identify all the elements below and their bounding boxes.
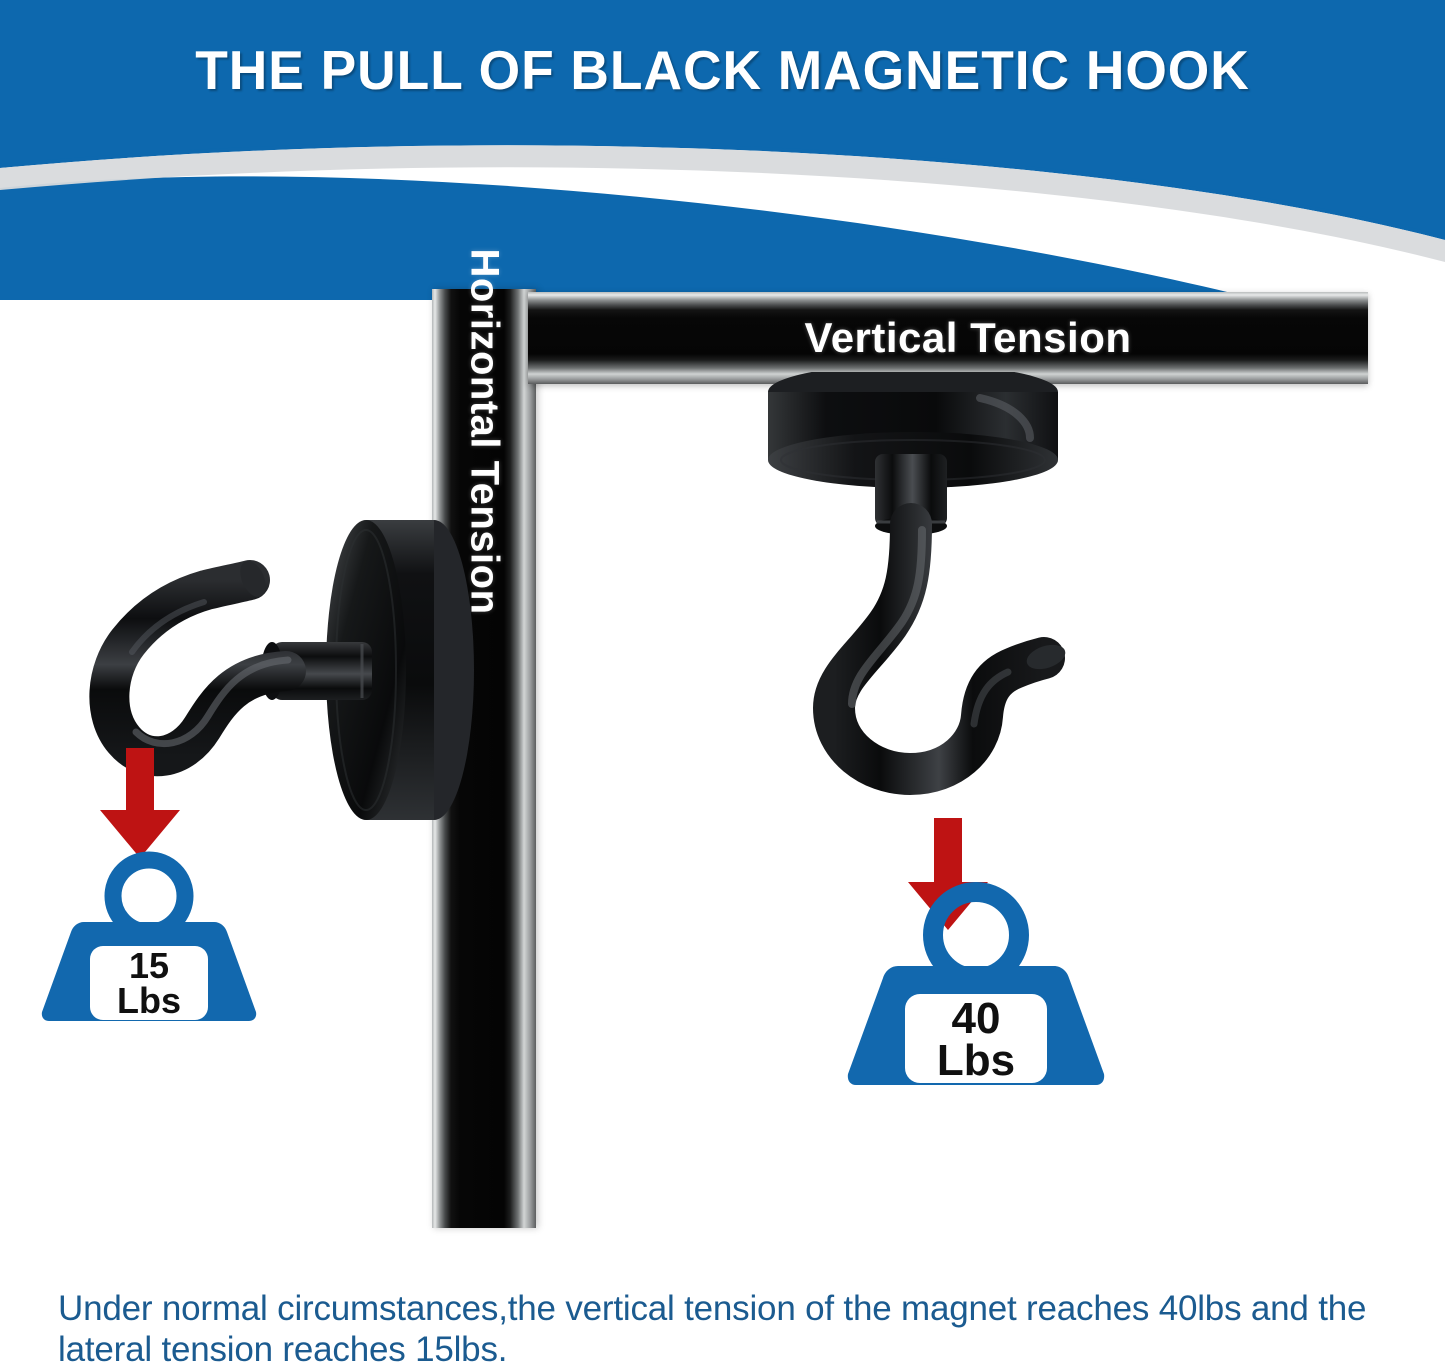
hook-curve xyxy=(109,580,286,756)
magnet-disc-body xyxy=(366,520,434,820)
weight-block-15lbs: 15 Lbs xyxy=(40,850,258,1027)
hook-highlight xyxy=(136,660,288,744)
magnet-disc-bottom-ring xyxy=(781,440,1045,480)
weight-ring xyxy=(933,892,1019,978)
weight-amount: 40 xyxy=(952,994,1001,1043)
wall-bar-label: Horizontal Tension xyxy=(462,248,507,614)
hook-neck xyxy=(875,454,947,526)
horizontal-hook-art xyxy=(10,470,540,865)
weight-unit: Lbs xyxy=(937,1036,1015,1085)
ceiling-bar: Vertical Tension xyxy=(528,292,1368,384)
weight-ring xyxy=(113,860,185,932)
hook-highlight-tip xyxy=(132,602,204,652)
arrow-down-icon xyxy=(900,818,996,930)
horizontal-magnetic-hook-icon xyxy=(10,470,540,860)
wall-bar: Horizontal Tension xyxy=(432,289,536,1228)
page-title: THE PULL OF BLACK MAGNETIC HOOK xyxy=(22,38,1424,102)
magnet-disc-bottom xyxy=(768,432,1058,488)
downward-force-arrow-right xyxy=(900,818,996,935)
downward-force-arrow-left xyxy=(92,748,188,863)
magnet-disc-highlight xyxy=(980,398,1030,438)
hook-tip-face xyxy=(1024,640,1069,673)
ceiling-bar-label: Vertical Tension xyxy=(528,292,1368,384)
weight-body xyxy=(848,966,1104,1085)
wall-bar-label-wrap: Horizontal Tension xyxy=(432,289,536,1228)
weight-icon: 15 Lbs xyxy=(40,850,258,1022)
magnet-disc-face xyxy=(326,520,406,820)
hook-curve xyxy=(834,524,1044,774)
hook-neck xyxy=(272,642,372,700)
weight-plate xyxy=(905,994,1047,1083)
caption-text: Under normal circumstances,the vertical … xyxy=(58,1288,1398,1370)
hook-highlight xyxy=(852,530,922,704)
arrow-shape xyxy=(100,748,180,858)
hook-highlight-tip xyxy=(974,672,1008,724)
weight-plate xyxy=(90,946,208,1020)
hook-neck-cap xyxy=(875,517,947,535)
arrow-shape xyxy=(908,818,988,930)
vertical-hook-art xyxy=(730,372,1130,847)
hook-neck-cap xyxy=(261,642,283,700)
magnet-disc-body xyxy=(768,392,1058,460)
hook-tip-face xyxy=(235,557,271,601)
magnet-disc-top xyxy=(768,372,1058,420)
weight-icon: 40 Lbs xyxy=(845,880,1107,1086)
magnet-disc-back xyxy=(394,520,474,820)
vertical-magnetic-hook-icon xyxy=(730,372,1130,842)
arrow-down-icon xyxy=(92,748,188,858)
weight-block-40lbs: 40 Lbs xyxy=(845,880,1107,1091)
weight-body xyxy=(42,922,256,1021)
magnet-disc-face-ring xyxy=(336,530,396,810)
header-banner: THE PULL OF BLACK MAGNETIC HOOK xyxy=(0,0,1445,300)
weight-unit: Lbs xyxy=(117,980,181,1021)
weight-amount: 15 xyxy=(129,945,169,986)
